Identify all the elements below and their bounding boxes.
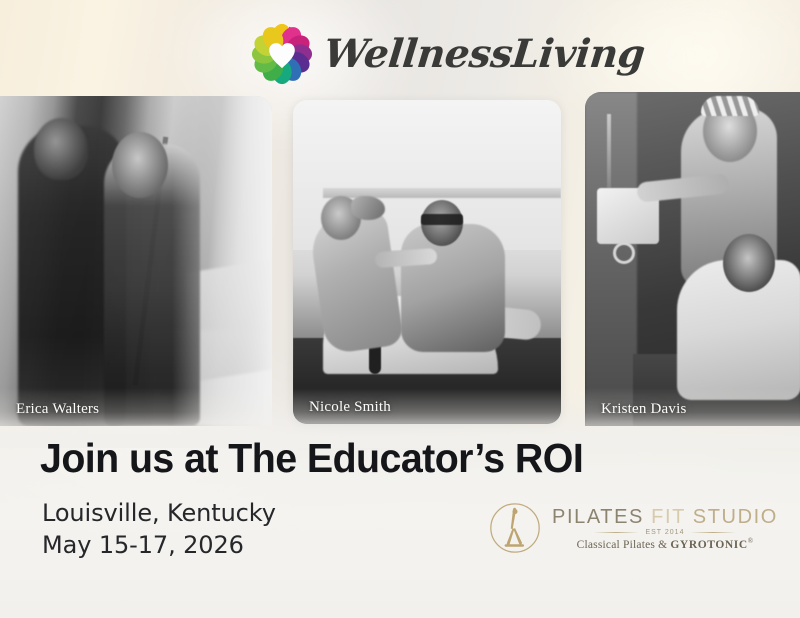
wellnessliving-flower-heart-icon	[250, 22, 314, 86]
spring-chain	[607, 114, 611, 188]
instructor-head	[34, 118, 88, 180]
event-promo-poster: Erica Walters Nicole Smith Kristen Davis	[0, 0, 800, 618]
studio-name-pilates: PILATES	[552, 506, 644, 528]
studio-established-row: EST 2014	[552, 529, 778, 536]
pilates-fit-studio-logo: PILATES FIT STUDIO EST 2014 Classical Pi…	[486, 497, 746, 559]
tagline-classical-pilates: Classical Pilates	[577, 538, 655, 550]
studio-wordmark: PILATES FIT STUDIO EST 2014 Classical Pi…	[552, 506, 778, 551]
studio-tagline: Classical Pilates & GYROTONIC®	[577, 537, 754, 551]
photo-nicole-smith: Nicole Smith	[293, 100, 561, 424]
photo-kristen-davis: Kristen Davis	[585, 92, 800, 426]
rule-right	[690, 532, 736, 533]
event-dates: May 15-17, 2026	[42, 530, 276, 562]
spring-ring	[613, 242, 635, 264]
client-ponytail	[351, 196, 385, 220]
instructor-figure	[401, 224, 505, 352]
tagline-ampersand: &	[658, 538, 667, 550]
client-head	[723, 234, 775, 292]
tagline-gyrotonic: GYROTONIC	[670, 538, 747, 550]
tagline-registered-mark: ®	[748, 537, 754, 545]
headband	[701, 96, 759, 116]
photo-caption: Kristen Davis	[601, 401, 687, 418]
photo-erica-walters: Erica Walters	[0, 96, 272, 426]
studio-name-studio: STUDIO	[693, 506, 778, 528]
photo-caption: Erica Walters	[16, 401, 99, 418]
photo-caption: Nicole Smith	[309, 399, 391, 416]
studio-established: EST 2014	[645, 529, 684, 536]
studio-name-fit: FIT	[651, 506, 685, 528]
wellnessliving-wordmark: WellnessLiving	[322, 35, 647, 74]
page-title: Join us at The Educator’s ROI	[40, 437, 583, 480]
rule-left	[593, 532, 639, 533]
event-location: Louisville, Kentucky	[42, 498, 276, 530]
studio-name-line: PILATES FIT STUDIO	[552, 507, 778, 528]
eyeglasses-icon	[421, 214, 463, 225]
event-details: Louisville, Kentucky May 15-17, 2026	[42, 498, 276, 561]
wellnessliving-logo: WellnessLiving	[250, 18, 560, 90]
pilates-figure-circle-icon	[486, 499, 544, 557]
client-head	[112, 132, 168, 198]
photo-right-fade	[172, 96, 272, 426]
